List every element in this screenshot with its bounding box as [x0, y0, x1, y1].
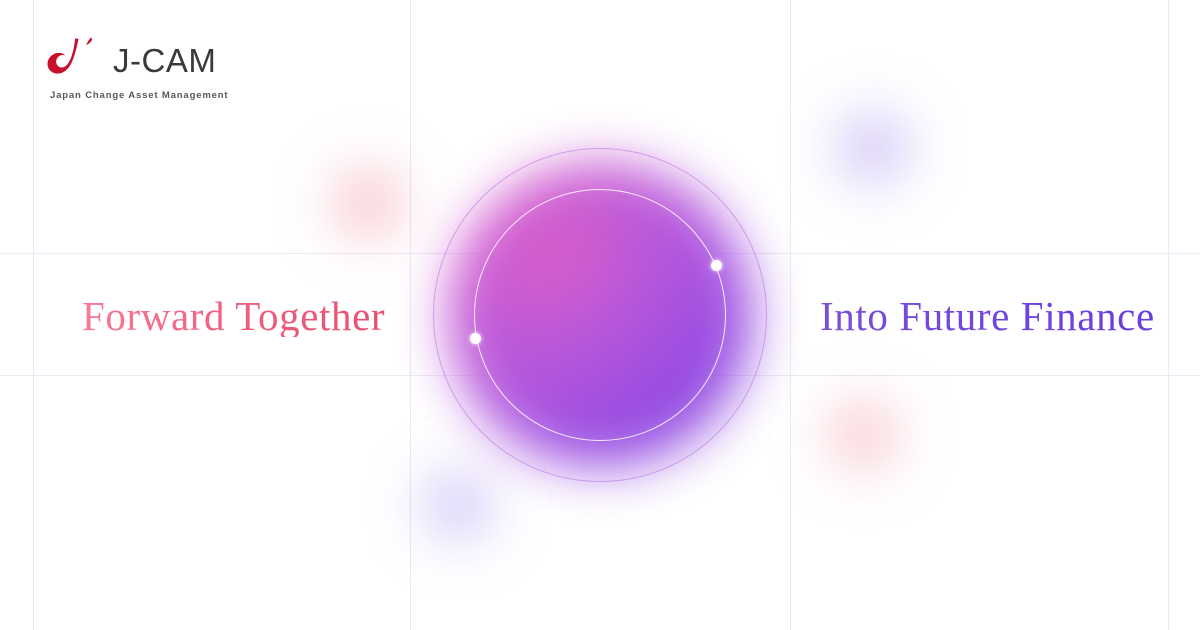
brand-logo-row: J-CAM — [47, 36, 216, 83]
headline-right: Into Future Finance — [820, 296, 1155, 337]
hero-banner: J-CAM Japan Change Asset Management Forw… — [0, 0, 1200, 630]
orb-node-left — [470, 333, 481, 344]
grid-line-vertical-1 — [33, 0, 34, 630]
headline-left: Forward Together — [82, 296, 385, 337]
blob-pink-upper-left — [322, 157, 414, 249]
brand-logo[interactable]: J-CAM Japan Change Asset Management — [47, 36, 228, 101]
orb-inner-ring — [474, 189, 726, 441]
grid-line-vertical-3 — [790, 0, 791, 630]
brand-tagline: Japan Change Asset Management — [50, 90, 228, 101]
brand-wordmark: J-CAM — [113, 44, 216, 77]
blob-pink-lower-right — [817, 389, 909, 481]
blob-purple-lower-left — [412, 459, 504, 551]
blob-purple-upper-right — [827, 102, 919, 194]
orb-node-upper-right — [711, 260, 722, 271]
jcam-swoosh-icon — [47, 36, 105, 83]
grid-line-vertical-2 — [410, 0, 411, 630]
grid-line-vertical-4 — [1168, 0, 1169, 630]
